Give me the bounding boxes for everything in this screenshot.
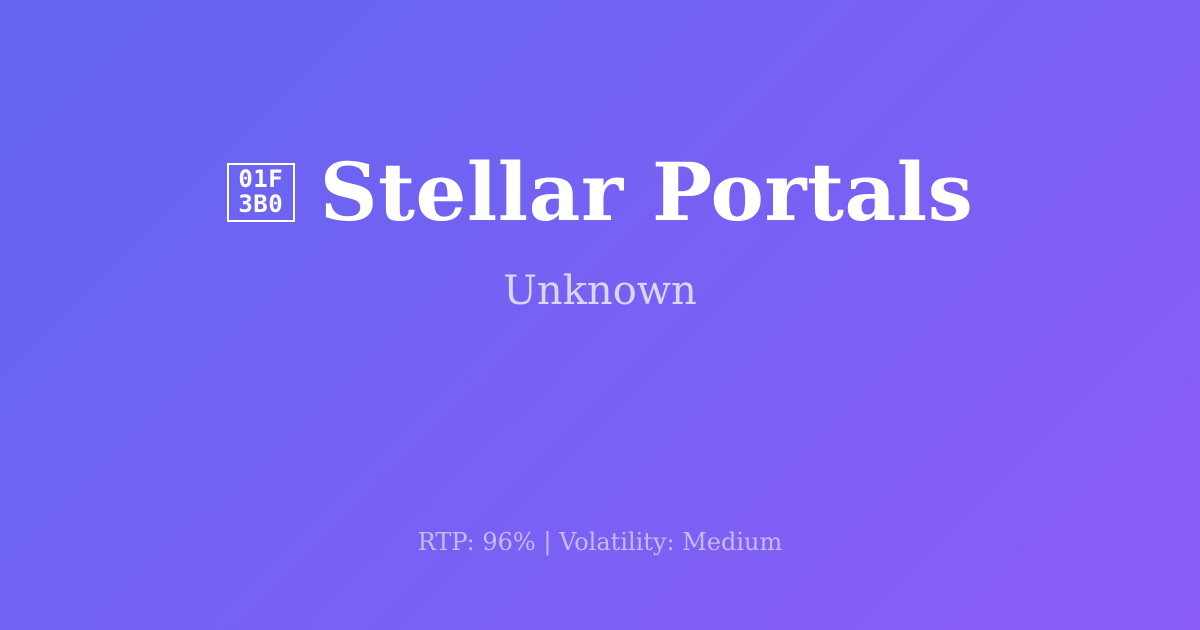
page-subtitle: Unknown	[503, 268, 697, 314]
tofu-codepoint-bottom: 3B0	[238, 192, 283, 217]
slot-machine-emoji-tofu-icon: 01F 3B0	[227, 163, 295, 222]
tofu-codepoint-top: 01F	[238, 167, 283, 192]
og-share-card: 01F 3B0 Stellar Portals Unknown RTP: 96%…	[0, 0, 1200, 630]
page-title: Stellar Portals	[320, 150, 973, 234]
game-meta-line: RTP: 96% | Volatility: Medium	[0, 528, 1200, 556]
hero-block: 01F 3B0 Stellar Portals Unknown	[0, 0, 1200, 470]
title-row: 01F 3B0 Stellar Portals	[227, 150, 973, 234]
